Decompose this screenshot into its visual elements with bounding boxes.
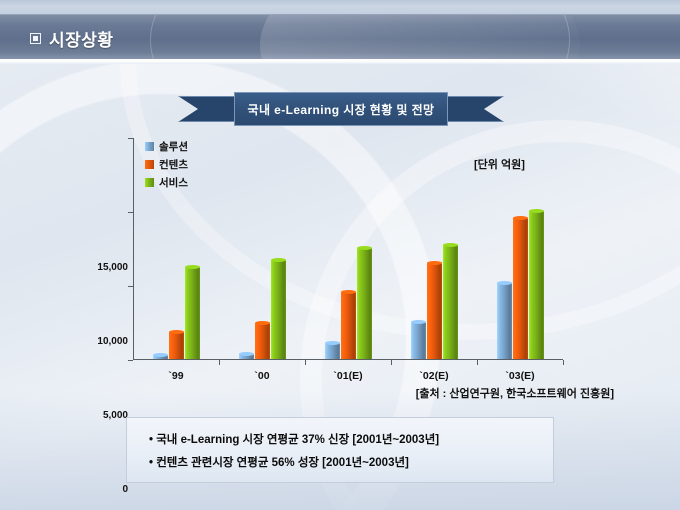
note-line: • 컨텐츠 관련시장 연평균 56% 성장 [2001년~2003년] (149, 452, 553, 475)
bar-서비스-`99 (185, 267, 200, 359)
y-axis-label: 15,000 (58, 262, 128, 273)
header-content: 시장상황 (30, 15, 114, 61)
bar-cap (325, 341, 340, 345)
ribbon-banner: 국내 e-Learning 시장 현황 및 전망 (178, 92, 504, 126)
bar-cap (255, 321, 270, 325)
chart: 솔루션컨텐츠서비스 [단위 억원] 05,00010,00015,000 `99… (0, 130, 680, 380)
bar-솔루션-`03(E) (497, 283, 512, 359)
header-underline (0, 61, 680, 64)
bar-서비스-`00 (271, 260, 286, 359)
x-axis-label: `02(E) (389, 370, 479, 382)
x-axis-label: `00 (217, 370, 307, 382)
bar-cap (411, 320, 426, 324)
bar-cap (443, 243, 458, 247)
page-title: 시장상황 (49, 26, 114, 51)
square-bullet-icon (30, 33, 41, 44)
top-strip (0, 0, 680, 14)
bar-컨텐츠-`03(E) (513, 218, 528, 359)
y-axis-tick (128, 138, 133, 139)
bar-서비스-`02(E) (443, 245, 458, 359)
x-axis-label: `99 (131, 370, 221, 382)
bar-컨텐츠-`00 (255, 323, 270, 359)
y-axis-tick (128, 212, 133, 213)
header-shine (150, 14, 570, 61)
chart-source-label: [출처 : 산업연구원, 한국소프트웨어 진흥원] (0, 385, 614, 401)
bar-cap (497, 281, 512, 285)
x-axis-line (133, 359, 563, 360)
bar-컨텐츠-`01(E) (341, 292, 356, 359)
bar-cap (427, 261, 442, 265)
bar-cap (239, 352, 254, 356)
x-axis-label: `03(E) (475, 370, 565, 382)
bar-cap (357, 246, 372, 250)
bar-cap (341, 290, 356, 294)
bar-cap (513, 216, 528, 220)
bar-컨텐츠-`02(E) (427, 263, 442, 359)
bar-컨텐츠-`99 (169, 332, 184, 359)
bar-솔루션-`01(E) (325, 343, 340, 359)
bar-솔루션-`02(E) (411, 322, 426, 359)
header-bar: 시장상황 (0, 14, 680, 61)
bar-cap (529, 209, 544, 213)
bar-cap (153, 353, 168, 357)
bar-솔루션-`00 (239, 354, 254, 359)
y-axis-label: 0 (58, 484, 128, 495)
bar-cap (271, 258, 286, 262)
bar-서비스-`03(E) (529, 211, 544, 359)
bar-서비스-`01(E) (357, 248, 372, 359)
bar-cap (169, 330, 184, 334)
bar-솔루션-`99 (153, 355, 168, 359)
bar-cap (185, 265, 200, 269)
x-axis-label: `01(E) (303, 370, 393, 382)
y-axis-tick (128, 360, 133, 361)
summary-note-box: • 국내 e-Learning 시장 연평균 37% 신장 [2001년~200… (126, 417, 554, 483)
y-axis-tick (128, 286, 133, 287)
x-axis-tick (391, 360, 392, 365)
x-axis-tick (305, 360, 306, 365)
note-line: • 국내 e-Learning 시장 연평균 37% 신장 [2001년~200… (149, 429, 553, 452)
ribbon-center: 국내 e-Learning 시장 현황 및 전망 (234, 92, 448, 126)
x-axis-tick (563, 360, 564, 365)
x-axis-tick (219, 360, 220, 365)
x-axis-tick (477, 360, 478, 365)
y-axis-label: 10,000 (58, 336, 128, 347)
y-axis-line (133, 138, 134, 360)
ribbon-title: 국내 e-Learning 시장 현황 및 전망 (248, 101, 435, 118)
y-axis-label: 5,000 (58, 410, 128, 421)
plot-area: `99`00`01(E)`02(E)`03(E) (133, 138, 563, 360)
